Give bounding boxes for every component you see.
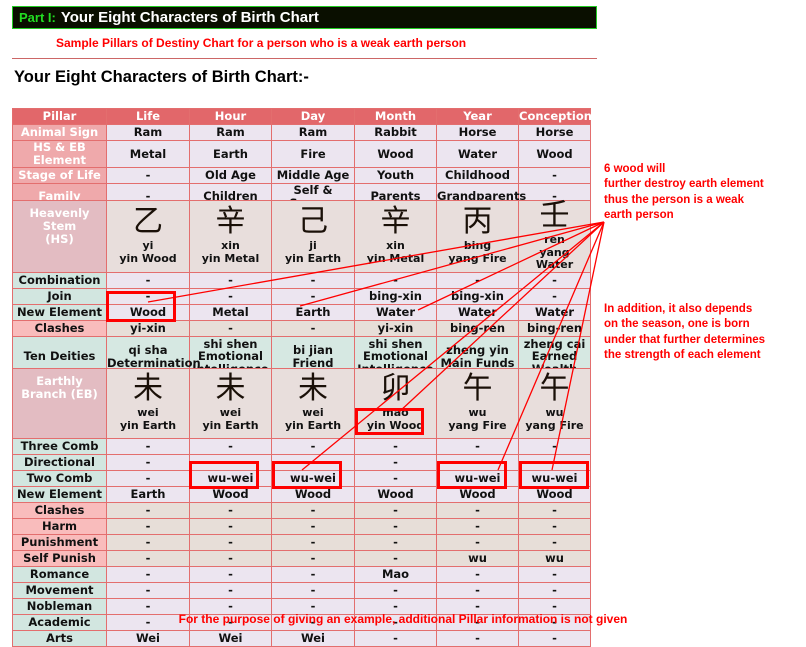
row-label-new-element: New Element [13, 487, 107, 503]
eb-cell-8-4: - [437, 567, 519, 583]
eb-cell-6-3: - [355, 535, 437, 551]
eb-cell-1-3: - [355, 455, 437, 471]
eb-character-0: 未weiyin Earth [107, 369, 190, 439]
eb-element-5: yang Fire [519, 420, 590, 433]
hs-element-0: yin Wood [107, 253, 189, 266]
row-label-directional: Directional [13, 455, 107, 471]
eb-cell-2-3: - [355, 471, 437, 487]
table-row: Two Comb-wu-weiwu-wei-wu-weiwu-wei [13, 471, 591, 487]
hs-cell-0-1: - [190, 272, 272, 288]
eb-cell-6-1: - [190, 535, 272, 551]
eb-cell-9-2: - [272, 583, 355, 599]
eb-cell-3-5: Wood [519, 487, 591, 503]
hs-cell-2-2: Earth [272, 304, 355, 320]
eb-element-1: yin Earth [190, 420, 271, 433]
row-label-hs-eb-element: HS & EBElement [13, 141, 107, 168]
row-label-stage-of-life: Stage of Life [13, 168, 107, 184]
row-label-self-punish: Self Punish [13, 551, 107, 567]
eb-cell-2-0: - [107, 471, 190, 487]
hs-cell-1-4: bing-xin [437, 288, 519, 304]
hs-pinyin-5: ren [519, 234, 590, 247]
table-row: Self Punish----wuwu [13, 551, 591, 567]
cell-2-5: - [519, 168, 591, 184]
eb-cell-6-0: - [107, 535, 190, 551]
row-label-clashes: Clashes [13, 320, 107, 336]
eb-han-3: 卯 [355, 374, 436, 404]
hs-element-1: yin Metal [190, 253, 271, 266]
annotation-note-2: In addition, it also depends on the seas… [604, 302, 802, 363]
cell-1-2: Fire [272, 141, 355, 168]
eb-cell-4-1: - [190, 503, 272, 519]
cell-2-1: Old Age [190, 168, 272, 184]
hs-element-3: yin Metal [355, 253, 436, 266]
table-row: Stage of Life-Old AgeMiddle AgeYouthChil… [13, 168, 591, 184]
eb-element-0: yin Earth [107, 420, 189, 433]
row-label-arts: Arts [13, 631, 107, 647]
cell-0-3: Rabbit [355, 125, 437, 141]
column-header-life: Life [107, 109, 190, 125]
table-row: Directional------ [13, 455, 591, 471]
eb-han-2: 未 [272, 374, 354, 404]
table-row: New ElementWoodMetalEarthWaterWaterWater [13, 304, 591, 320]
table-row: ArtsWeiWeiWei--- [13, 631, 591, 647]
hs-element-5: yang Water [519, 247, 590, 272]
eb-cell-9-1: - [190, 583, 272, 599]
eb-cell-12-2: Wei [272, 631, 355, 647]
eb-cell-5-1: - [190, 519, 272, 535]
hs-han-5: 壬 [519, 201, 590, 231]
table-row: Heavenly Stem(HS)乙yiyin Wood辛xinyin Meta… [13, 201, 591, 273]
row-label-animal-sign: Animal Sign [13, 125, 107, 141]
cell-1-4: Water [437, 141, 519, 168]
hs-element-2: yin Earth [272, 253, 354, 266]
horizontal-divider [12, 58, 597, 59]
eb-character-4: 午wuyang Fire [437, 369, 519, 439]
row-label-heavenly-stem: Heavenly Stem(HS) [13, 201, 107, 273]
hs-cell-1-2: - [272, 288, 355, 304]
eb-cell-1-0: - [107, 455, 190, 471]
eb-cell-0-2: - [272, 439, 355, 455]
eb-cell-7-2: - [272, 551, 355, 567]
hs-cell-0-2: - [272, 272, 355, 288]
row-label-new-element: New Element [13, 304, 107, 320]
footer-note: For the purpose of giving an example, ad… [0, 612, 806, 626]
eb-cell-8-0: - [107, 567, 190, 583]
hs-cell-3-1: - [190, 320, 272, 336]
hs-element-4: yang Fire [437, 253, 518, 266]
hs-han-0: 乙 [107, 207, 189, 237]
eb-cell-4-3: - [355, 503, 437, 519]
row-label-punishment: Punishment [13, 535, 107, 551]
hs-cell-2-0: Wood [107, 304, 190, 320]
eb-character-2: 未weiyin Earth [272, 369, 355, 439]
eb-cell-4-2: - [272, 503, 355, 519]
eb-cell-1-4: - [437, 455, 519, 471]
eb-cell-5-3: - [355, 519, 437, 535]
cell-0-0: Ram [107, 125, 190, 141]
eb-cell-12-0: Wei [107, 631, 190, 647]
column-header-year: Year [437, 109, 519, 125]
table-row: New ElementEarthWoodWoodWoodWoodWood [13, 487, 591, 503]
hs-cell-0-0: - [107, 272, 190, 288]
pillar-summary-table: PillarLifeHourDayMonthYearConceptionAnim… [12, 108, 591, 211]
eb-cell-2-2: wu-wei [272, 471, 355, 487]
hs-character-4: 丙bingyang Fire [437, 201, 519, 273]
eb-cell-6-2: - [272, 535, 355, 551]
hs-han-3: 辛 [355, 207, 436, 237]
eb-cell-2-1: wu-wei [190, 471, 272, 487]
table-row: Clashesyi-xin--yi-xinbing-renbing-ren [13, 320, 591, 336]
row-label-join: Join [13, 288, 107, 304]
cell-0-4: Horse [437, 125, 519, 141]
table-row: Harm------ [13, 519, 591, 535]
eb-cell-3-3: Wood [355, 487, 437, 503]
table-row: HS & EBElementMetalEarthFireWoodWaterWoo… [13, 141, 591, 168]
hs-cell-2-5: Water [519, 304, 591, 320]
cell-1-5: Wood [519, 141, 591, 168]
hs-cell-1-0: - [107, 288, 190, 304]
column-header-conception: Conception [519, 109, 591, 125]
eb-element-3: yin Wood [355, 420, 436, 433]
eb-cell-1-1: - [190, 455, 272, 471]
table-row: Three Comb------ [13, 439, 591, 455]
eb-element-4: yang Fire [437, 420, 518, 433]
eb-cell-12-5: - [519, 631, 591, 647]
table-row: PillarLifeHourDayMonthYearConception [13, 109, 591, 125]
column-header-hour: Hour [190, 109, 272, 125]
table-row: Punishment------ [13, 535, 591, 551]
eb-cell-7-5: wu [519, 551, 591, 567]
section-heading: Your Eight Characters of Birth Chart:- [14, 68, 309, 87]
table-row: Movement------ [13, 583, 591, 599]
eb-cell-9-4: - [437, 583, 519, 599]
eb-cell-2-5: wu-wei [519, 471, 591, 487]
annotation-note-1: 6 wood will further destroy earth elemen… [604, 162, 802, 223]
cell-2-0: - [107, 168, 190, 184]
hs-cell-3-5: bing-ren [519, 320, 591, 336]
hs-cell-0-3: - [355, 272, 437, 288]
row-label-harm: Harm [13, 519, 107, 535]
eb-cell-4-5: - [519, 503, 591, 519]
hs-cell-0-4: - [437, 272, 519, 288]
hs-cell-3-2: - [272, 320, 355, 336]
eb-cell-8-5: - [519, 567, 591, 583]
eb-cell-5-4: - [437, 519, 519, 535]
cell-2-3: Youth [355, 168, 437, 184]
eb-cell-8-3: Mao [355, 567, 437, 583]
eb-cell-3-4: Wood [437, 487, 519, 503]
eb-cell-2-4: wu-wei [437, 471, 519, 487]
eb-cell-3-1: Wood [190, 487, 272, 503]
cell-0-2: Ram [272, 125, 355, 141]
eb-cell-0-5: - [519, 439, 591, 455]
eb-cell-9-0: - [107, 583, 190, 599]
hs-cell-1-5: - [519, 288, 591, 304]
hs-han-1: 辛 [190, 207, 271, 237]
page-subtitle: Sample Pillars of Destiny Chart for a pe… [56, 36, 466, 50]
row-label-romance: Romance [13, 567, 107, 583]
table-row: Romance---Mao-- [13, 567, 591, 583]
table-row: Clashes------ [13, 503, 591, 519]
eb-han-0: 未 [107, 374, 189, 404]
eb-cell-12-4: - [437, 631, 519, 647]
eb-cell-9-3: - [355, 583, 437, 599]
cell-2-2: Middle Age [272, 168, 355, 184]
eb-character-3: 卯maoyin Wood [355, 369, 437, 439]
hs-cell-1-1: - [190, 288, 272, 304]
eb-cell-7-3: - [355, 551, 437, 567]
eb-cell-5-0: - [107, 519, 190, 535]
hs-cell-2-3: Water [355, 304, 437, 320]
eb-cell-8-1: - [190, 567, 272, 583]
eb-cell-4-4: - [437, 503, 519, 519]
eb-cell-4-0: - [107, 503, 190, 519]
hs-character-5: 壬renyang Water [519, 201, 591, 273]
eb-cell-0-3: - [355, 439, 437, 455]
table-row: EarthlyBranch (EB)未weiyin Earth未weiyin E… [13, 369, 591, 439]
eb-element-2: yin Earth [272, 420, 354, 433]
eb-cell-7-1: - [190, 551, 272, 567]
row-label-combination: Combination [13, 272, 107, 288]
eb-han-1: 未 [190, 374, 271, 404]
eb-cell-7-4: wu [437, 551, 519, 567]
hs-cell-3-4: bing-ren [437, 320, 519, 336]
row-label-clashes: Clashes [13, 503, 107, 519]
column-header-pillar: Pillar [13, 109, 107, 125]
cell-2-4: Childhood [437, 168, 519, 184]
table-row: Animal SignRamRamRamRabbitHorseHorse [13, 125, 591, 141]
eb-cell-5-2: - [272, 519, 355, 535]
eb-character-1: 未weiyin Earth [190, 369, 272, 439]
eb-cell-6-4: - [437, 535, 519, 551]
eb-cell-7-0: - [107, 551, 190, 567]
eb-han-4: 午 [437, 374, 518, 404]
eb-cell-1-5: - [519, 455, 591, 471]
eb-cell-6-5: - [519, 535, 591, 551]
hs-cell-1-3: bing-xin [355, 288, 437, 304]
hs-character-2: 己jiyin Earth [272, 201, 355, 273]
hs-han-4: 丙 [437, 207, 518, 237]
eb-cell-0-4: - [437, 439, 519, 455]
eb-cell-3-0: Earth [107, 487, 190, 503]
page-title: Your Eight Characters of Birth Chart [61, 9, 319, 26]
heavenly-stem-table: Heavenly Stem(HS)乙yiyin Wood辛xinyin Meta… [12, 200, 591, 378]
hs-han-2: 己 [272, 207, 354, 237]
row-label-two-comb: Two Comb [13, 471, 107, 487]
hs-cell-2-4: Water [437, 304, 519, 320]
row-label-movement: Movement [13, 583, 107, 599]
eb-cell-0-1: - [190, 439, 272, 455]
eb-cell-5-5: - [519, 519, 591, 535]
eb-cell-12-3: - [355, 631, 437, 647]
row-label-earthly-branch: EarthlyBranch (EB) [13, 369, 107, 439]
hs-character-3: 辛xinyin Metal [355, 201, 437, 273]
column-header-month: Month [355, 109, 437, 125]
cell-0-1: Ram [190, 125, 272, 141]
hs-cell-3-3: yi-xin [355, 320, 437, 336]
cell-1-3: Wood [355, 141, 437, 168]
eb-cell-0-0: - [107, 439, 190, 455]
cell-0-5: Horse [519, 125, 591, 141]
hs-cell-3-0: yi-xin [107, 320, 190, 336]
cell-1-1: Earth [190, 141, 272, 168]
column-header-day: Day [272, 109, 355, 125]
table-row: Combination------ [13, 272, 591, 288]
earthly-branch-table: EarthlyBranch (EB)未weiyin Earth未weiyin E… [12, 368, 591, 647]
eb-han-5: 午 [519, 374, 590, 404]
part-label: Part I: [19, 10, 56, 25]
eb-character-5: 午wuyang Fire [519, 369, 591, 439]
hs-cell-0-5: - [519, 272, 591, 288]
eb-cell-8-2: - [272, 567, 355, 583]
hs-character-1: 辛xinyin Metal [190, 201, 272, 273]
eb-cell-1-2: - [272, 455, 355, 471]
hs-cell-2-1: Metal [190, 304, 272, 320]
table-row: Join---bing-xinbing-xin- [13, 288, 591, 304]
hs-character-0: 乙yiyin Wood [107, 201, 190, 273]
eb-cell-12-1: Wei [190, 631, 272, 647]
cell-1-0: Metal [107, 141, 190, 168]
row-label-three-comb: Three Comb [13, 439, 107, 455]
page-title-bar: Part I: Your Eight Characters of Birth C… [12, 6, 597, 29]
eb-cell-3-2: Wood [272, 487, 355, 503]
eb-cell-9-5: - [519, 583, 591, 599]
